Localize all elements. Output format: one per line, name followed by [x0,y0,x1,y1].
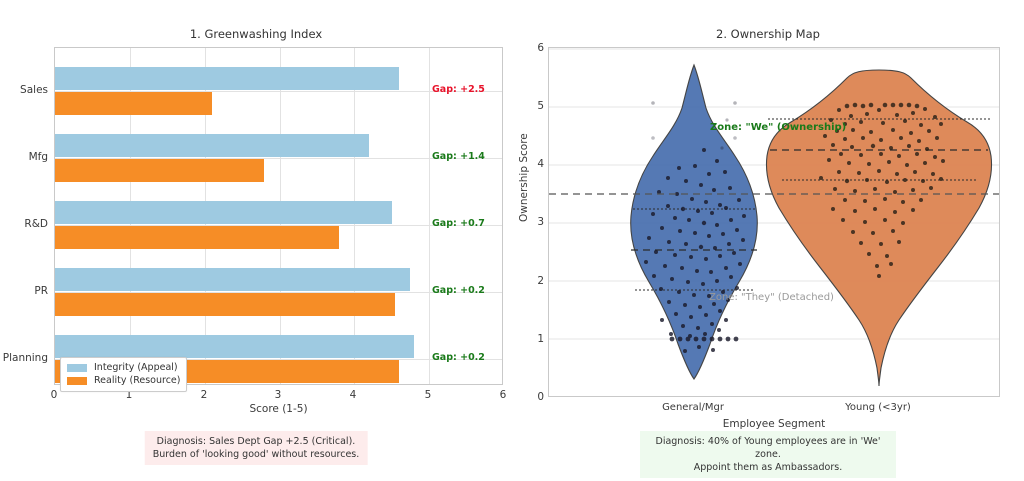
bar-xtick-6: 6 [500,389,507,401]
bar-appeal-eco [55,335,414,358]
violin-ytick-5: 5 [528,100,544,112]
bar-ytick-mfg: Mfg [0,151,48,163]
violin-xaxis-title: Employee Segment [548,418,1000,430]
violin-plot-area [548,47,1000,397]
gap-annotation-rnd: Gap: +0.7 [432,218,485,229]
greenwashing-index-panel: 1. Greenwashing Index "Gap between Appea… [0,0,512,481]
bar-chart-diagnosis-caption: Diagnosis: Sales Dept Gap +2.5 (Critical… [145,431,368,465]
gridline-x-5 [429,48,430,384]
bar-reality-mfg [55,159,264,182]
gap-annotation-pr: Gap: +0.2 [432,285,485,296]
dual-chart-figure: 1. Greenwashing Index "Gap between Appea… [0,0,1024,481]
violin-ytick-1: 1 [528,333,544,345]
violin-xtick-young: Young (<3yr) [845,402,911,413]
bar-appeal-mfg [55,134,369,157]
bar-xtick-4: 4 [350,389,357,401]
gap-annotation-eco: Gap: +0.2 [432,352,485,363]
bar-ytick-eco-planning: o Planning [0,352,48,364]
legend-swatch-reality-icon [67,377,87,385]
bar-plot-area [54,47,503,385]
violin-chart-diagnosis-caption: Diagnosis: 40% of Young employees are in… [640,431,896,478]
legend-item-reality[interactable]: Reality (Resource) [67,374,180,387]
violin-body-general-mgr [631,65,758,379]
bar-reality-rnd [55,226,339,249]
legend-swatch-appeal-icon [67,364,87,372]
bar-xaxis-title: Score (1-5) [54,403,503,415]
violin-plot-svg [549,48,1000,397]
bar-chart-legend[interactable]: Integrity (Appeal) Reality (Resource) [60,357,187,392]
bar-appeal-pr [55,268,410,291]
bar-appeal-sales [55,67,399,90]
gap-annotation-sales: Gap: +2.5 [432,84,485,95]
violin-ytick-4: 4 [528,158,544,170]
bar-ytick-pr: PR [0,285,48,297]
bar-xtick-5: 5 [425,389,432,401]
bar-reality-pr [55,293,395,316]
ownership-map-panel: 2. Ownership Map "Who are the hidden key… [512,0,1024,481]
violin-chart-title-line1: 2. Ownership Map [512,27,1024,42]
zone-label-we: Zone: "We" (Ownership) [710,122,846,133]
bar-xtick-0: 0 [51,389,58,401]
bar-xtick-3: 3 [275,389,282,401]
gap-annotation-mfg: Gap: +1.4 [432,151,485,162]
bar-ytick-sales: Sales [0,84,48,96]
bar-ytick-rnd: R&D [0,218,48,230]
violin-ytick-2: 2 [528,275,544,287]
violin-ytick-0: 0 [528,391,544,403]
bar-chart-title-line1: 1. Greenwashing Index [0,27,512,42]
bar-appeal-rnd [55,201,392,224]
legend-item-appeal[interactable]: Integrity (Appeal) [67,361,180,374]
violin-ytick-3: 3 [528,216,544,228]
violin-xtick-general-mgr: General/Mgr [662,402,724,413]
violin-ytick-6: 6 [528,42,544,54]
legend-label-reality: Reality (Resource) [94,375,180,386]
legend-label-appeal: Integrity (Appeal) [94,362,178,373]
bar-xtick-2: 2 [201,389,208,401]
zone-label-they: Zone: "They" (Detached) [709,292,834,303]
violin-yaxis-title: Ownership Score [518,133,530,222]
bar-reality-sales [55,92,212,115]
